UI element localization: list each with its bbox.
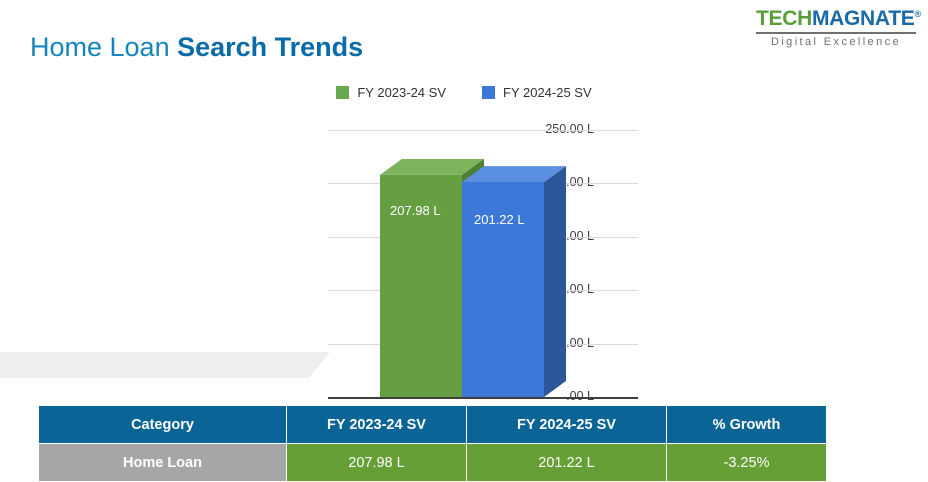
legend-item-fy2024-25[interactable]: FY 2024-25 SV [482,85,592,100]
table-cell-fy2024-25: 201.22 L [467,444,667,482]
table-header-growth: % Growth [667,406,827,444]
logo-magnate-text: MAGNATE [812,7,915,30]
gridline [328,130,638,131]
table-header-row: Category FY 2023-24 SV FY 2024-25 SV % G… [39,406,827,444]
logo-tech-text: TECH [756,7,812,30]
bar-value-label-fy2024-25: 201.22 L [474,212,525,227]
chart-baseline-axis [328,397,638,399]
legend-label-fy2024-25: FY 2024-25 SV [503,85,592,100]
registered-trademark-icon: ® [914,9,920,19]
bar-side-face [544,166,566,397]
data-table: Category FY 2023-24 SV FY 2024-25 SV % G… [38,405,827,482]
logo-divider [756,32,916,34]
page-title-light: Home Loan [30,32,177,62]
company-logo: TECHMAGNATE® Digital Excellence [756,8,916,48]
logo-wordmark: TECHMAGNATE® [756,8,916,30]
table-cell-fy2023-24: 207.98 L [287,444,467,482]
table-header-fy2023-24: FY 2023-24 SV [287,406,467,444]
bar-chart: FY 2023-24 SV FY 2024-25 SV 250.00 L200.… [0,85,928,385]
table-row: Home Loan 207.98 L 201.22 L -3.25% [39,444,827,482]
page-title-bold: Search Trends [177,32,363,62]
chart-floor [0,352,330,378]
bar-value-label-fy2023-24: 207.98 L [390,203,441,218]
chart-plot-area: 207.98 L201.22 L [328,130,638,397]
legend-label-fy2023-24: FY 2023-24 SV [357,85,446,100]
page-title: Home Loan Search Trends [30,32,363,63]
legend-swatch-blue [482,86,495,99]
logo-tagline: Digital Excellence [756,36,916,48]
legend-item-fy2023-24[interactable]: FY 2023-24 SV [336,85,446,100]
legend-swatch-green [336,86,349,99]
table-cell-category: Home Loan [39,444,287,482]
chart-legend: FY 2023-24 SV FY 2024-25 SV [0,85,928,100]
table-cell-growth: -3.25% [667,444,827,482]
table-header-category: Category [39,406,287,444]
table-header-fy2024-25: FY 2024-25 SV [467,406,667,444]
